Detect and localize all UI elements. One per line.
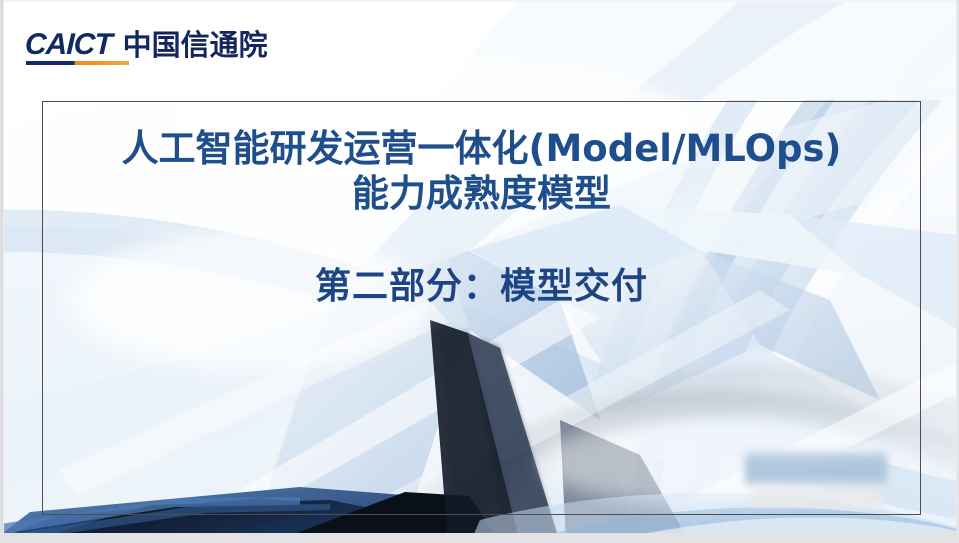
caict-underline-accent [26, 61, 129, 65]
caict-wordmark: CAICT [25, 30, 112, 60]
capture-edge-top [0, 0, 959, 2]
presentation-slide: CAICT 中国信通院 人工智能研发运营一体化(Model/MLOps) 能力成… [0, 0, 959, 543]
caict-acronym: CAICT [24, 30, 112, 60]
caict-chinese-name: 中国信通院 [123, 30, 268, 60]
content-frame-border [42, 101, 921, 515]
caict-logo: CAICT 中国信通院 [25, 20, 268, 60]
capture-edge-bottom [0, 533, 959, 543]
capture-edge-left [0, 0, 4, 543]
